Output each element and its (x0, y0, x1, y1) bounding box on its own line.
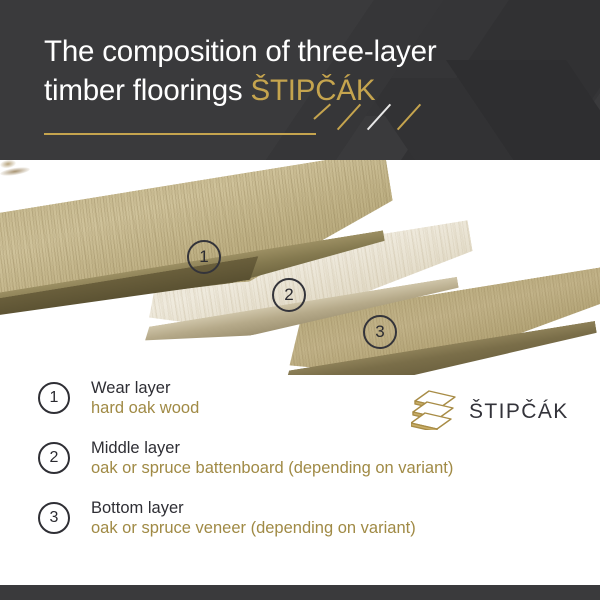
legend-subtitle: oak or spruce battenboard (depending on … (91, 458, 453, 479)
page-title: The composition of three-layer timber fl… (44, 32, 544, 110)
legend-number-3: 3 (38, 502, 70, 534)
plank-marker-2: 2 (272, 278, 306, 312)
plank-marker-1: 1 (187, 240, 221, 274)
stacked-planks-logo-icon (411, 388, 459, 435)
header-banner: The composition of three-layer timber fl… (0, 0, 600, 160)
footer-bar (0, 585, 600, 600)
legend-title: Wear layer (91, 378, 199, 398)
title-line-1: The composition of three-layer (44, 35, 436, 68)
legend-subtitle: oak or spruce veneer (depending on varia… (91, 518, 416, 539)
brand-name: ŠTIPČÁK (250, 74, 375, 107)
legend-text-block: Bottom layer oak or spruce veneer (depen… (91, 498, 416, 540)
logo-wordmark: ŠTIPČÁK (469, 400, 569, 424)
legend-text-block: Middle layer oak or spruce battenboard (… (91, 438, 453, 480)
legend-title: Bottom layer (91, 498, 416, 518)
legend-item-bottom-layer: 3 Bottom layer oak or spruce veneer (dep… (38, 498, 598, 550)
flooring-layers-illustration: 1 2 3 (0, 160, 600, 375)
title-line-2-prefix: timber floorings (44, 74, 250, 107)
legend-text-block: Wear layer hard oak wood (91, 378, 199, 420)
company-logo: ŠTIPČÁK (411, 388, 569, 435)
legend-item-middle-layer: 2 Middle layer oak or spruce battenboard… (38, 438, 598, 490)
legend-subtitle: hard oak wood (91, 398, 199, 419)
legend-number-2: 2 (38, 442, 70, 474)
header-gold-rule (44, 133, 316, 135)
plank-marker-3: 3 (363, 315, 397, 349)
legend-title: Middle layer (91, 438, 453, 458)
legend-number-1: 1 (38, 382, 70, 414)
